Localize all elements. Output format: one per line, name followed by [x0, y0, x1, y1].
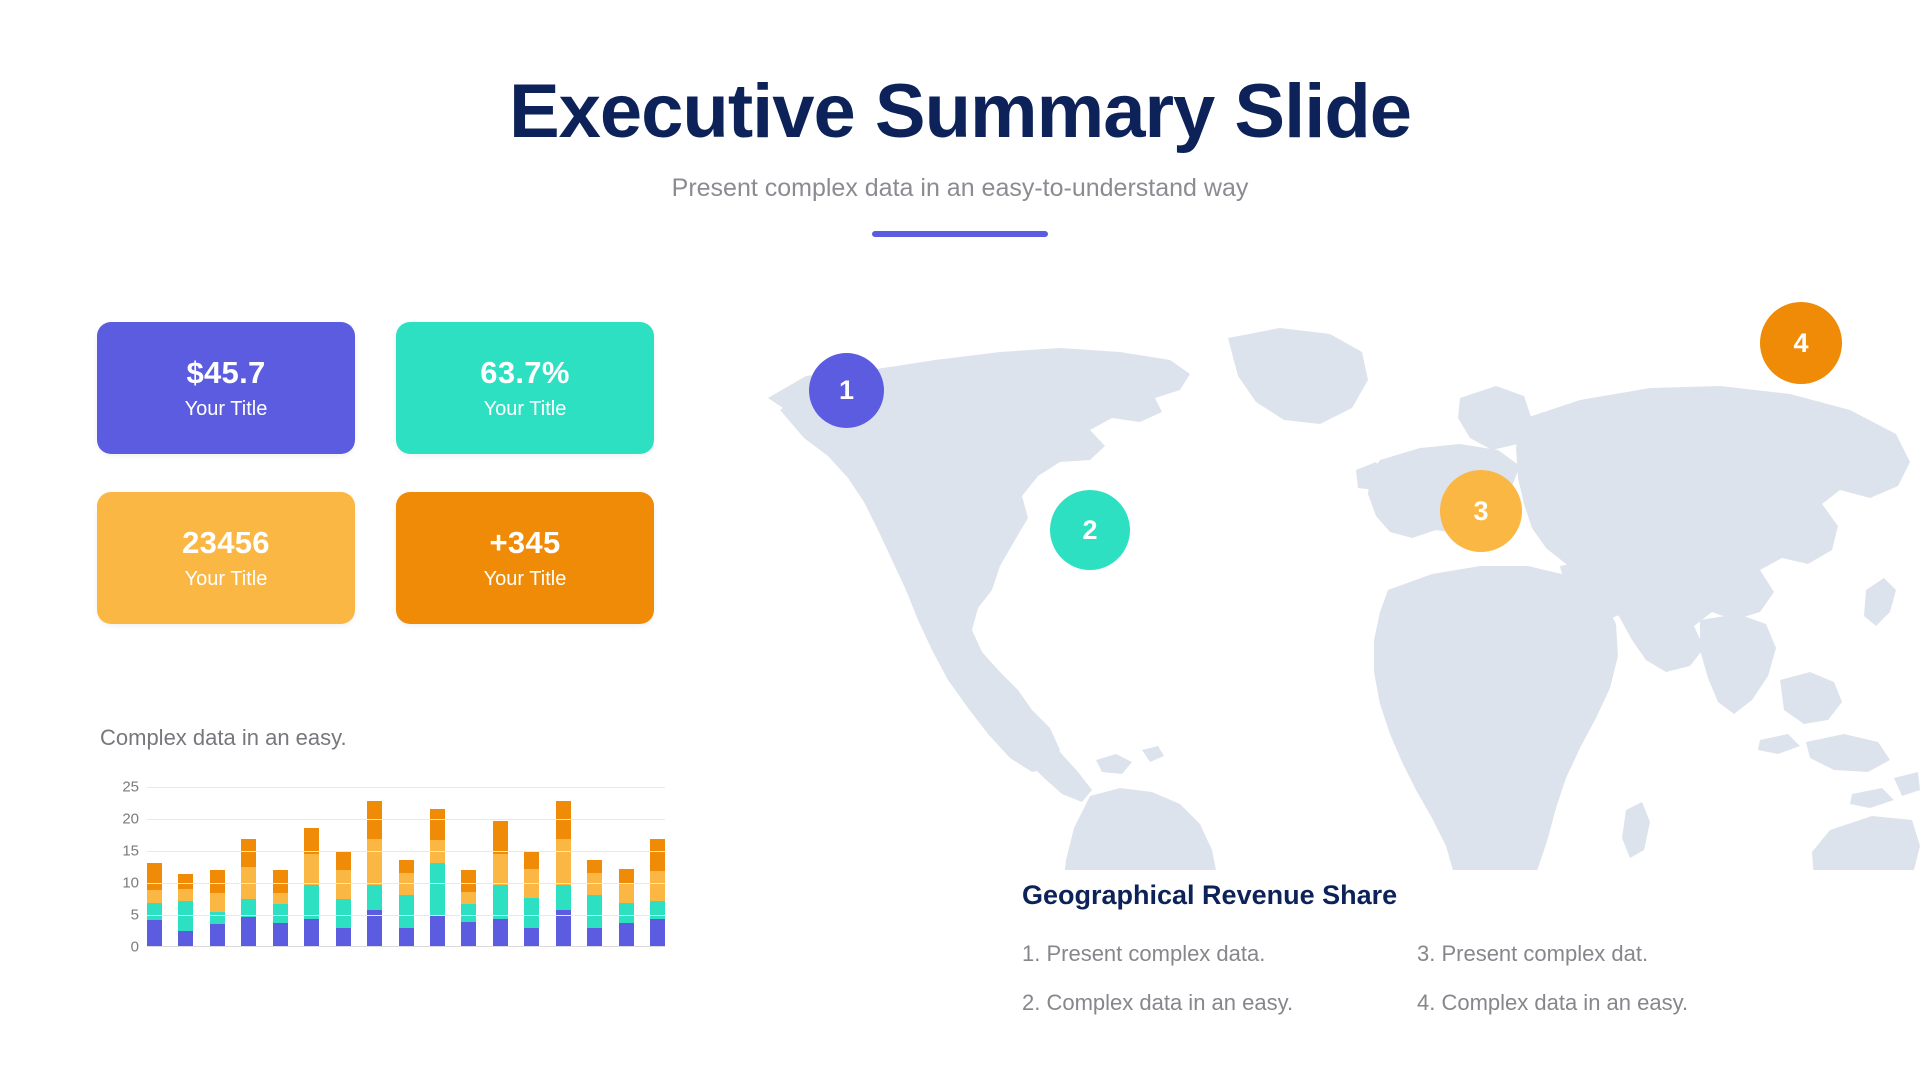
bar-segment-series-4 [556, 801, 571, 839]
geo-list-item: 2. Complex data in an easy. [1022, 990, 1407, 1016]
bar-segment-series-1 [493, 919, 508, 946]
bar-segment-series-1 [461, 922, 476, 946]
bar-segment-series-3 [399, 873, 414, 895]
bar-column[interactable] [556, 801, 571, 946]
bar-column[interactable] [210, 870, 225, 946]
bar-segment-series-4 [273, 870, 288, 893]
bar-column[interactable] [178, 874, 193, 946]
chart-gridline [147, 883, 665, 884]
bar-segment-series-3 [367, 839, 382, 885]
y-axis-tick-label: 25 [122, 779, 139, 796]
kpi-value: +345 [489, 525, 560, 561]
bar-segment-series-3 [304, 854, 319, 885]
page-title: Executive Summary Slide [0, 72, 1920, 152]
bar-segment-series-3 [556, 839, 571, 885]
bar-segment-series-1 [399, 928, 414, 946]
chart-gridline [147, 915, 665, 916]
bar-segment-series-4 [587, 860, 602, 873]
world-map-svg [760, 290, 1920, 870]
bar-segment-series-4 [430, 809, 445, 840]
bar-segment-series-4 [461, 870, 476, 892]
bar-segment-series-2 [430, 863, 445, 916]
kpi-value: 23456 [182, 525, 270, 561]
bar-column[interactable] [367, 801, 382, 946]
kpi-label: Your Title [185, 568, 268, 591]
kpi-label: Your Title [484, 568, 567, 591]
chart-block: Complex data in an easy. 0510152025 [100, 725, 700, 967]
bar-segment-series-1 [273, 923, 288, 946]
bar-segment-series-3 [147, 890, 162, 903]
bar-segment-series-2 [399, 895, 414, 928]
bar-segment-series-1 [650, 919, 665, 946]
bar-segment-series-3 [461, 892, 476, 904]
geo-item-list: 1. Present complex data.3. Present compl… [1022, 941, 1822, 1016]
kpi-value: 63.7% [480, 355, 569, 391]
bar-column[interactable] [430, 809, 445, 946]
bar-segment-series-1 [430, 916, 445, 946]
bar-segment-series-1 [336, 928, 351, 946]
y-axis-tick-label: 20 [122, 811, 139, 828]
bar-segment-series-2 [336, 899, 351, 928]
bar-column[interactable] [273, 870, 288, 946]
map-marker-2[interactable]: 2 [1050, 490, 1130, 570]
geo-list-item: 4. Complex data in an easy. [1417, 990, 1802, 1016]
chart-plot-area [147, 787, 665, 947]
bar-segment-series-4 [367, 801, 382, 839]
bar-segment-series-1 [178, 931, 193, 946]
page-subtitle: Present complex data in an easy-to-under… [0, 174, 1920, 203]
bar-column[interactable] [304, 828, 319, 946]
bar-segment-series-2 [273, 904, 288, 923]
bar-segment-series-2 [650, 901, 665, 920]
kpi-card-1[interactable]: $45.7Your Title [97, 322, 355, 454]
bar-segment-series-1 [524, 928, 539, 946]
bar-segment-series-3 [619, 884, 634, 903]
y-axis-tick-label: 10 [122, 875, 139, 892]
kpi-value: $45.7 [186, 355, 265, 391]
bar-column[interactable] [650, 839, 665, 946]
bar-segment-series-4 [147, 863, 162, 891]
bar-column[interactable] [147, 863, 162, 946]
geo-heading: Geographical Revenue Share [1022, 880, 1822, 911]
bar-segment-series-1 [304, 919, 319, 946]
bar-segment-series-2 [210, 912, 225, 924]
bar-segment-series-2 [587, 895, 602, 928]
bar-column[interactable] [336, 851, 351, 946]
bar-segment-series-1 [210, 924, 225, 946]
bar-segment-series-2 [556, 885, 571, 910]
bar-column[interactable] [461, 870, 476, 946]
bar-segment-series-3 [650, 871, 665, 900]
bar-segment-series-1 [241, 917, 256, 946]
bar-segment-series-2 [493, 885, 508, 920]
bar-segment-series-4 [178, 874, 193, 889]
bar-segment-series-2 [304, 885, 319, 920]
bar-column[interactable] [524, 852, 539, 946]
chart-bars [147, 787, 665, 946]
title-divider [872, 231, 1048, 237]
bar-segment-series-2 [619, 903, 634, 923]
bar-segment-series-3 [273, 893, 288, 905]
bar-segment-series-3 [493, 854, 508, 885]
y-axis-tick-label: 0 [131, 939, 139, 956]
bar-segment-series-1 [587, 928, 602, 946]
geo-list-item: 3. Present complex dat. [1417, 941, 1802, 967]
chart-gridline [147, 787, 665, 788]
bar-column[interactable] [587, 860, 602, 946]
map-marker-3[interactable]: 3 [1440, 470, 1522, 552]
geo-revenue-block: Geographical Revenue Share 1. Present co… [1022, 880, 1822, 1016]
bar-segment-series-2 [147, 903, 162, 920]
map-marker-4[interactable]: 4 [1760, 302, 1842, 384]
kpi-card-4[interactable]: +345Your Title [396, 492, 654, 624]
bar-segment-series-3 [210, 893, 225, 912]
bar-column[interactable] [619, 869, 634, 946]
world-map: 1234 [760, 290, 1920, 870]
bar-segment-series-3 [336, 870, 351, 899]
chart-caption: Complex data in an easy. [100, 725, 700, 751]
map-marker-1[interactable]: 1 [809, 353, 884, 428]
y-axis-tick-label: 5 [131, 907, 139, 924]
kpi-label: Your Title [484, 398, 567, 421]
bar-segment-series-4 [399, 860, 414, 873]
bar-segment-series-2 [367, 885, 382, 910]
map-marker-number: 1 [839, 375, 854, 406]
bar-segment-series-3 [587, 873, 602, 895]
bar-column[interactable] [241, 839, 256, 946]
bar-segment-series-4 [241, 839, 256, 867]
bar-segment-series-4 [650, 839, 665, 872]
kpi-label: Your Title [185, 398, 268, 421]
bar-segment-series-1 [147, 920, 162, 946]
map-marker-number: 4 [1793, 328, 1808, 359]
bar-segment-series-2 [461, 904, 476, 923]
map-marker-number: 2 [1082, 515, 1097, 546]
y-axis-tick-label: 15 [122, 843, 139, 860]
bar-segment-series-4 [493, 821, 508, 854]
stacked-bar-chart: 0510152025 [100, 787, 665, 967]
chart-gridline [147, 819, 665, 820]
bar-segment-series-3 [178, 889, 193, 901]
geo-list-item: 1. Present complex data. [1022, 941, 1407, 967]
bar-segment-series-4 [210, 870, 225, 893]
kpi-card-3[interactable]: 23456Your Title [97, 492, 355, 624]
kpi-card-grid: $45.7Your Title63.7%Your Title23456Your … [97, 322, 657, 624]
chart-gridline [147, 851, 665, 852]
bar-segment-series-4 [304, 828, 319, 854]
bar-segment-series-4 [619, 869, 634, 884]
map-landmasses [768, 328, 1920, 870]
kpi-card-2[interactable]: 63.7%Your Title [396, 322, 654, 454]
bar-segment-series-1 [619, 923, 634, 946]
map-marker-number: 3 [1473, 496, 1488, 527]
bar-segment-series-4 [524, 852, 539, 869]
bar-column[interactable] [399, 860, 414, 946]
slide-header: Executive Summary Slide Present complex … [0, 0, 1920, 237]
bar-segment-series-4 [336, 851, 351, 870]
bar-segment-series-2 [524, 898, 539, 928]
